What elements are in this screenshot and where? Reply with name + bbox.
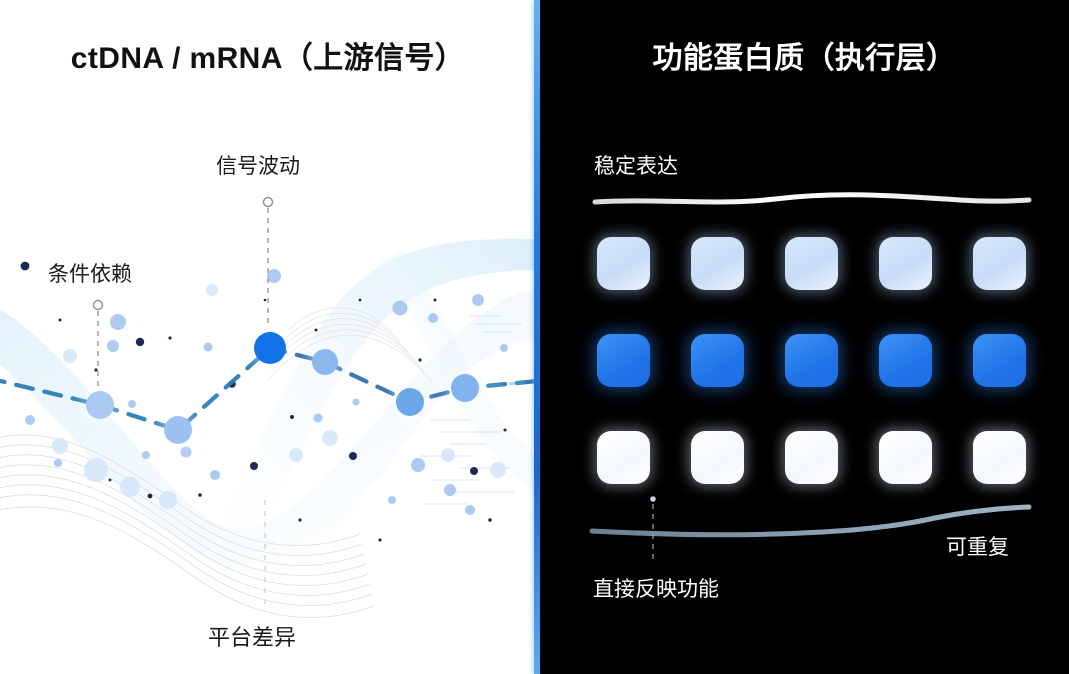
tile-row1-col1 bbox=[597, 237, 650, 290]
tile-row2-col1 bbox=[597, 334, 650, 387]
label-repeatable: 可重复 bbox=[946, 531, 1009, 561]
infographic-canvas: ctDNA / mRNA（上游信号） 信号波动 条件依赖 平台差异 bbox=[0, 0, 1069, 674]
label-condition-dependent: 条件依赖 bbox=[48, 258, 132, 288]
leader-signal bbox=[264, 198, 273, 324]
tile-row2-col3 bbox=[785, 334, 838, 387]
tile-row3-col4 bbox=[879, 431, 932, 484]
label-direct-function: 直接反映功能 bbox=[593, 573, 719, 603]
tile-row1-col2 bbox=[691, 237, 744, 290]
right-panel-functional-protein: 功能蛋白质（执行层） 稳定表达 直接反映功能 可重复 bbox=[540, 0, 1069, 674]
tile-row3-col3 bbox=[785, 431, 838, 484]
tile-row1-col5 bbox=[973, 237, 1026, 290]
right-panel-title: 功能蛋白质（执行层） bbox=[540, 33, 1069, 77]
condition-bullet-dot bbox=[21, 262, 30, 271]
stable-expression-wave bbox=[595, 195, 1029, 202]
left-panel-upstream-signal: ctDNA / mRNA（上游信号） 信号波动 条件依赖 平台差异 bbox=[0, 0, 536, 674]
tile-row1-col4 bbox=[879, 237, 932, 290]
label-signal-fluctuation: 信号波动 bbox=[216, 150, 300, 180]
tile-row3-col5 bbox=[973, 431, 1026, 484]
leader-condition bbox=[94, 301, 103, 387]
left-panel-artwork bbox=[0, 0, 536, 674]
tile-row1-col3 bbox=[785, 237, 838, 290]
tile-row3-col2 bbox=[691, 431, 744, 484]
left-panel-title: ctDNA / mRNA（上游信号） bbox=[0, 33, 536, 77]
label-stable-expression: 稳定表达 bbox=[594, 150, 678, 180]
tile-row2-col4 bbox=[879, 334, 932, 387]
protein-tile-grid bbox=[597, 237, 1057, 509]
tile-row3-col1 bbox=[597, 431, 650, 484]
tile-row2-col5 bbox=[973, 334, 1026, 387]
tile-row2-col2 bbox=[691, 334, 744, 387]
label-platform-variance: 平台差异 bbox=[208, 620, 296, 652]
